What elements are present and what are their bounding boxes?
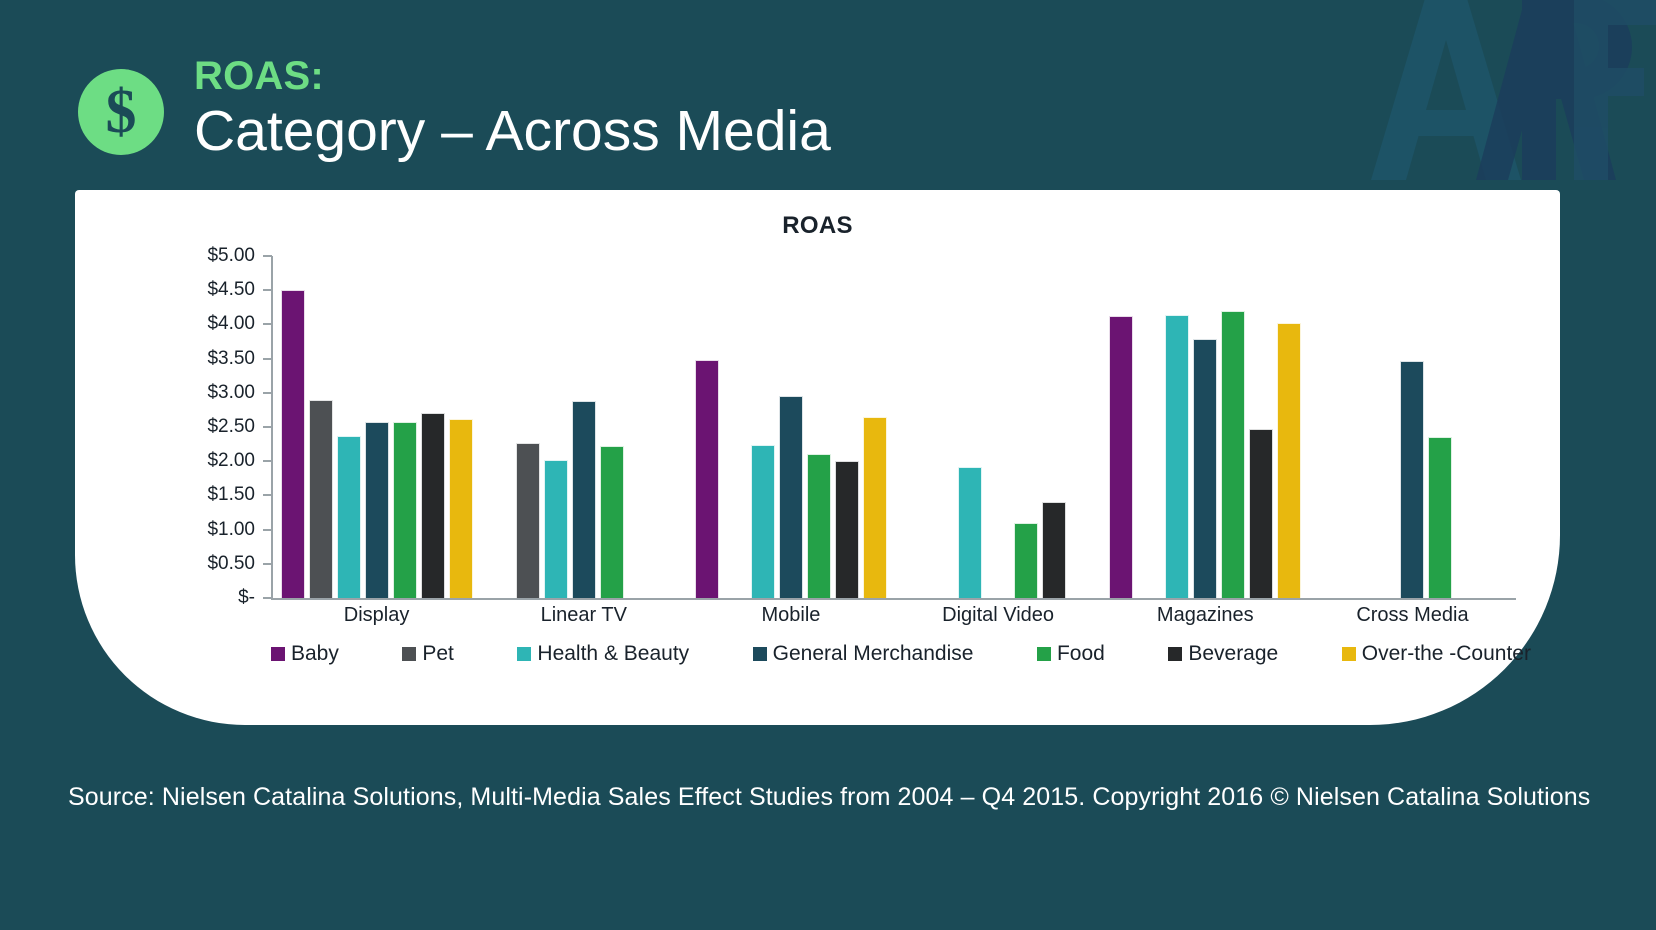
legend-label: Health & Beauty — [537, 642, 689, 666]
legend-item[interactable]: Over-the -Counter — [1342, 642, 1531, 666]
legend-swatch-icon — [402, 647, 416, 661]
y-axis-tick-label: $3.50 — [207, 348, 255, 370]
legend-swatch-icon — [753, 647, 767, 661]
y-axis-tick — [263, 529, 272, 531]
bar — [835, 461, 859, 598]
chart-legend: BabyPetHealth & BeautyGeneral Merchandis… — [271, 642, 1531, 666]
y-axis-tick-label: $3.00 — [207, 382, 255, 404]
bar-groups — [273, 256, 1516, 598]
legend-item[interactable]: Health & Beauty — [517, 642, 689, 666]
bar — [1042, 502, 1066, 598]
x-axis-category-label: Magazines — [1102, 604, 1309, 627]
legend-label: Baby — [291, 642, 339, 666]
bar — [1193, 339, 1217, 598]
y-axis-tick-label: $2.00 — [207, 450, 255, 472]
y-axis-tick — [263, 392, 272, 394]
legend-label: Over-the -Counter — [1362, 642, 1531, 666]
bar — [1249, 429, 1273, 598]
slide-header: $ ROAS: Category – Across Media — [78, 55, 831, 165]
y-axis-tick-label: $5.00 — [207, 245, 255, 267]
bar — [1277, 323, 1301, 598]
source-footnote: Source: Nielsen Catalina Solutions, Mult… — [68, 783, 1590, 812]
chart-card: ROAS $-$0.50$1.00$1.50$2.00$2.50$3.00$3.… — [75, 190, 1560, 725]
bar — [751, 445, 775, 598]
bar — [572, 401, 596, 598]
bar-group — [687, 256, 894, 598]
legend-swatch-icon — [1168, 647, 1182, 661]
y-axis-tick — [263, 494, 272, 496]
bar — [337, 436, 361, 598]
bar — [958, 467, 982, 598]
bar — [544, 460, 568, 598]
bar — [449, 419, 473, 598]
bar — [1400, 361, 1424, 598]
bar — [807, 454, 831, 598]
x-axis-category-label: Linear TV — [480, 604, 687, 627]
bar — [1428, 437, 1452, 598]
bar — [365, 422, 389, 598]
bar — [516, 443, 540, 598]
x-axis-category-label: Cross Media — [1309, 604, 1516, 627]
y-axis-tick — [263, 460, 272, 462]
bar — [863, 417, 887, 598]
legend-label: General Merchandise — [773, 642, 974, 666]
legend-item[interactable]: Pet — [402, 642, 454, 666]
slide-title: Category – Across Media — [194, 99, 831, 165]
y-axis-tick — [263, 255, 272, 257]
bar-group — [480, 256, 687, 598]
y-axis-tick — [263, 426, 272, 428]
bar — [1165, 315, 1189, 598]
legend-label: Food — [1057, 642, 1105, 666]
bar — [1109, 316, 1133, 598]
bar — [1014, 523, 1038, 598]
legend-swatch-icon — [271, 647, 285, 661]
legend-swatch-icon — [517, 647, 531, 661]
y-axis-tick-label: $- — [238, 587, 255, 609]
y-axis-tick-label: $2.50 — [207, 416, 255, 438]
y-axis-tick-label: $4.50 — [207, 279, 255, 301]
x-axis-category-label: Digital Video — [895, 604, 1102, 627]
dollar-sign-icon: $ — [78, 69, 164, 155]
bar-group — [895, 256, 1102, 598]
y-axis-labels: $-$0.50$1.00$1.50$2.00$2.50$3.00$3.50$4.… — [167, 256, 255, 598]
y-axis-tick — [263, 289, 272, 291]
bar — [779, 396, 803, 598]
bar-group — [1102, 256, 1309, 598]
bar — [1221, 311, 1245, 598]
y-axis-tick-label: $1.00 — [207, 519, 255, 541]
coin-glyph: $ — [106, 81, 137, 143]
legend-label: Pet — [422, 642, 454, 666]
legend-swatch-icon — [1037, 647, 1051, 661]
x-axis-category-label: Mobile — [687, 604, 894, 627]
legend-item[interactable]: Beverage — [1168, 642, 1278, 666]
slide-kicker: ROAS: — [194, 55, 831, 97]
bar — [695, 360, 719, 598]
y-axis-tick-label: $4.00 — [207, 313, 255, 335]
bar — [281, 290, 305, 598]
x-axis-category-labels: DisplayLinear TVMobileDigital VideoMagaz… — [273, 604, 1516, 627]
y-axis-tick-label: $1.50 — [207, 484, 255, 506]
legend-item[interactable]: Baby — [271, 642, 339, 666]
bar — [421, 413, 445, 598]
arf-watermark-logo — [1326, 0, 1656, 190]
bar-group — [1309, 256, 1516, 598]
bar — [600, 446, 624, 598]
legend-item[interactable]: General Merchandise — [753, 642, 974, 666]
y-axis-tick — [263, 358, 272, 360]
title-block: ROAS: Category – Across Media — [194, 55, 831, 165]
legend-swatch-icon — [1342, 647, 1356, 661]
chart-plot-area: $-$0.50$1.00$1.50$2.00$2.50$3.00$3.50$4.… — [75, 256, 1560, 611]
y-axis-tick-label: $0.50 — [207, 553, 255, 575]
bar-group — [273, 256, 480, 598]
bar — [393, 422, 417, 598]
y-axis-tick — [263, 563, 272, 565]
chart-title: ROAS — [75, 212, 1560, 240]
x-axis-line — [271, 598, 1516, 600]
legend-item[interactable]: Food — [1037, 642, 1105, 666]
x-axis-category-label: Display — [273, 604, 480, 627]
bar — [309, 400, 333, 598]
legend-label: Beverage — [1188, 642, 1278, 666]
y-axis-tick — [263, 323, 272, 325]
